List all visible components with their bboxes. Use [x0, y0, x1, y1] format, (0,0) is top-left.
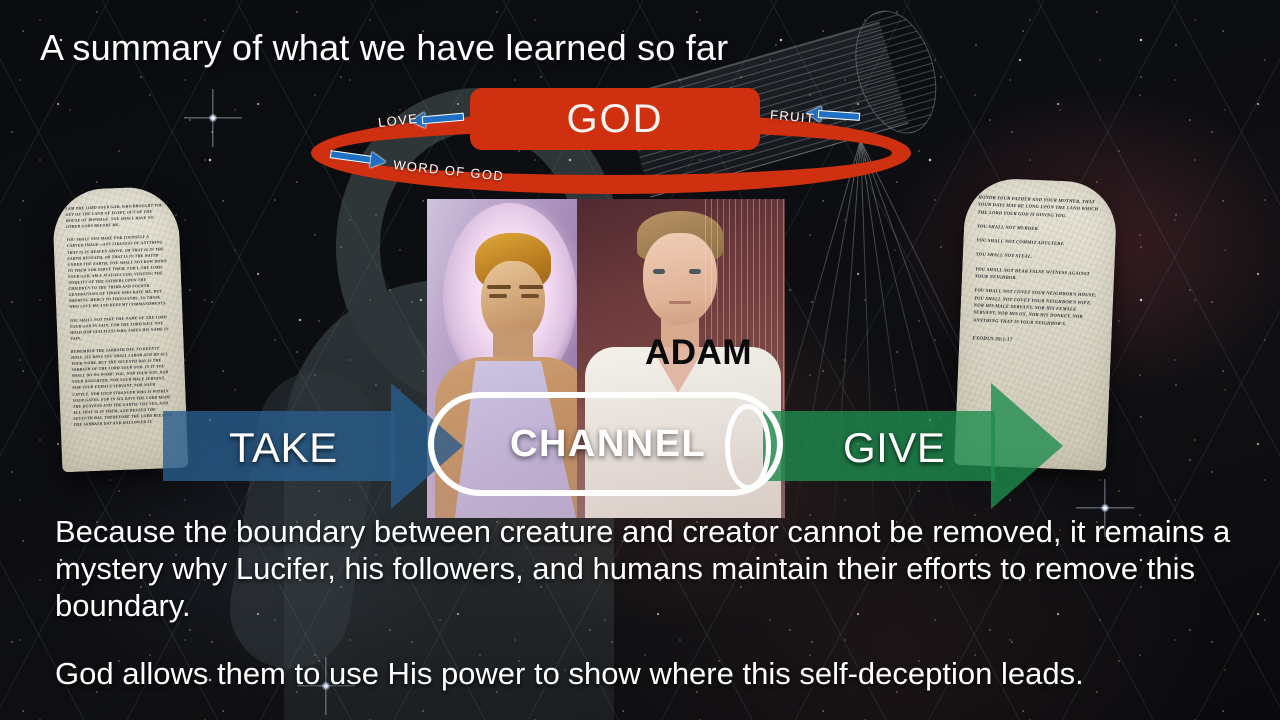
body-paragraph-1: Because the boundary between creature an…: [55, 513, 1235, 624]
slide-canvas: I AM THE LORD YOUR GOD, WHO BROUGHT YOU …: [0, 0, 1280, 720]
page-title: A summary of what we have learned so far: [40, 27, 728, 69]
tablet-right-reference: EXODUS 20:1-17: [972, 335, 1098, 348]
tablet-right-line: YOU SHALL NOT COMMIT ADULTERY.: [976, 237, 1102, 250]
take-label: TAKE: [229, 424, 338, 472]
tablet-left-line: I AM THE LORD YOUR GOD, WHO BROUGHT YOU …: [65, 202, 166, 230]
channel-endcap: [725, 404, 771, 490]
channel-cylinder: CHANNEL: [428, 392, 783, 496]
tablet-right-line: YOU SHALL NOT COVET YOUR NEIGHBOR'S HOUS…: [973, 287, 1100, 329]
tablet-right-line: YOU SHALL NOT MURDER.: [977, 222, 1103, 235]
tablet-right-line: YOU SHALL NOT STEAL.: [976, 251, 1102, 264]
god-banner: GOD: [470, 88, 760, 150]
adam-label: ADAM: [645, 333, 752, 373]
god-label: GOD: [566, 97, 663, 142]
tablet-right-line: HONOR YOUR FATHER AND YOUR MOTHER, THAT …: [977, 193, 1104, 220]
tablet-right-line: YOU SHALL NOT BEAR FALSE WITNESS AGAINST…: [975, 265, 1102, 285]
tablet-left-line: YOU SHALL NOT TAKE THE NAME OF THE LORD …: [70, 314, 171, 342]
channel-label: CHANNEL: [510, 423, 706, 466]
tablet-left-line: REMEMBER THE SABBATH DAY, TO KEEP IT HOL…: [71, 345, 174, 428]
body-paragraph-2: God allows them to use His power to show…: [55, 655, 1235, 692]
tablet-left-line: YOU SHALL NOT MAKE FOR YOURSELF A CARVED…: [66, 234, 169, 311]
give-label: GIVE: [843, 424, 945, 472]
